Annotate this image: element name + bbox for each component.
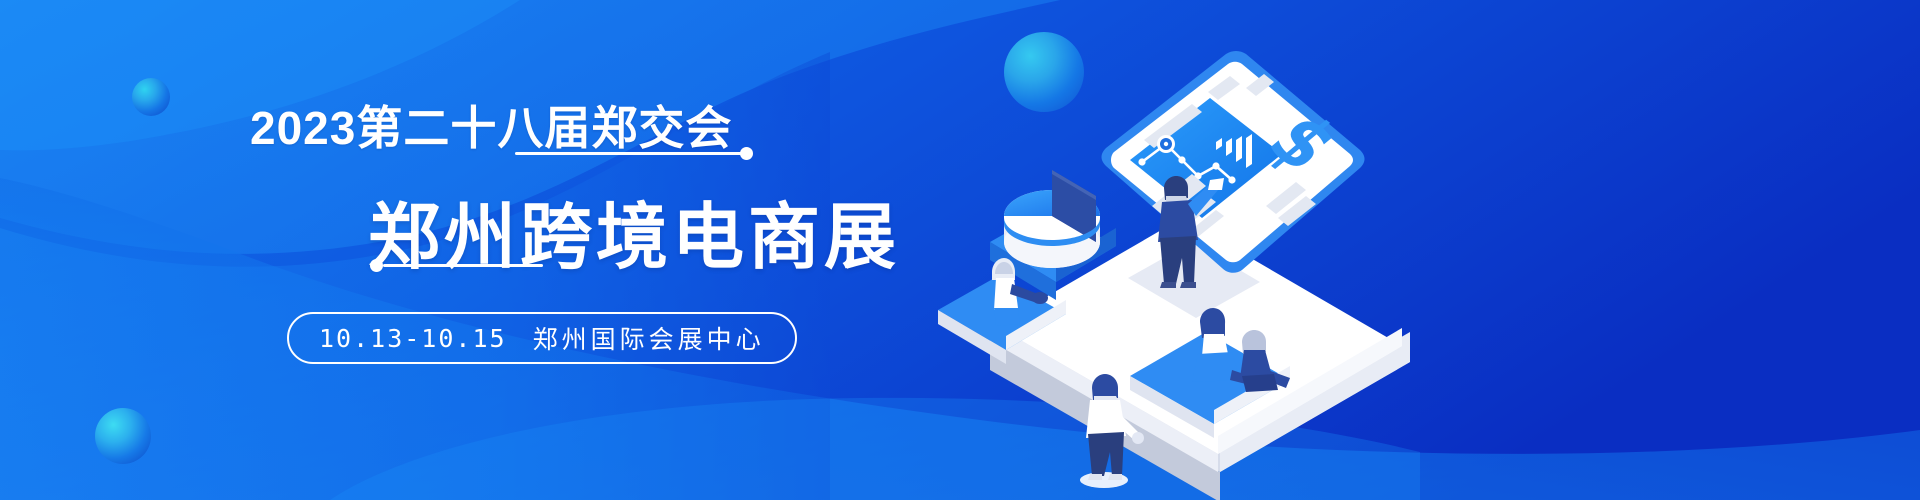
banner-text-block: 2023第二十八届郑交会 郑州跨境电商展 10.13-10.15 郑州国际会展中… <box>0 0 980 500</box>
line-chart-highlight-node <box>1157 135 1175 153</box>
page-title: 郑州跨境电商展 <box>368 178 900 283</box>
divider-dot-top <box>740 147 753 160</box>
isometric-illustration: $ <box>930 10 1470 500</box>
monitor-screen: $ <box>1098 51 1365 318</box>
event-info-pill: 10.13-10.15 郑州国际会展中心 <box>287 312 797 364</box>
event-banner: 2023第二十八届郑交会 郑州跨境电商展 10.13-10.15 郑州国际会展中… <box>0 0 1920 500</box>
divider-line-top <box>515 152 743 155</box>
event-dates: 10.13-10.15 <box>319 324 507 353</box>
divider-dot-bottom <box>370 259 383 272</box>
event-venue: 郑州国际会展中心 <box>533 320 765 356</box>
divider-line-bottom <box>383 264 543 267</box>
event-subtitle: 2023第二十八届郑交会 <box>250 92 732 158</box>
